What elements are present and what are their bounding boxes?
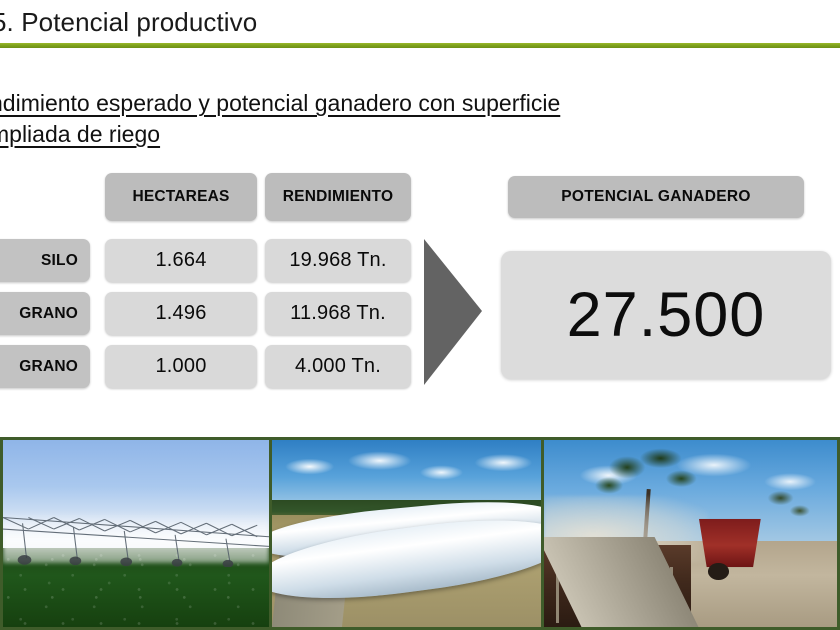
photo-center-pivot-irrigation: [0, 437, 272, 630]
feedlot-scene: [544, 440, 837, 627]
photo-silo-bags: [272, 437, 544, 630]
wagon-wheel: [708, 563, 729, 580]
background-tree: [755, 481, 819, 552]
potencial-ganadero-header: POTENCIAL GANADERO: [508, 176, 804, 218]
irrigation-scene: [3, 440, 269, 627]
table-cell-hectareas: 1.000: [105, 345, 257, 388]
slide-subtitle: ndimiento esperado y potencial ganadero …: [0, 88, 800, 150]
table-cell-hectareas: 1.664: [105, 239, 257, 282]
photo-strip: [0, 437, 840, 630]
table-row-label: GRANO: [0, 345, 90, 388]
table-cell-rendimiento: 11.968 Tn.: [265, 292, 411, 335]
production-table: HECTAREAS RENDIMIENTO SILO 1.664 19.968 …: [0, 173, 410, 395]
column-header-rendimiento: RENDIMIENTO: [265, 173, 411, 221]
clouds: [272, 447, 541, 496]
mixer-wagon: [696, 519, 760, 568]
subtitle-line-1: ndimiento esperado y potencial ganadero …: [0, 90, 560, 116]
slide-root: 5. Potencial productivo ndimiento espera…: [0, 0, 840, 630]
subtitle-line-2: mpliada de riego: [0, 119, 800, 150]
photo-cattle-feedlot: [544, 437, 840, 630]
pivot-structure-icon: [3, 504, 269, 568]
table-cell-hectareas: 1.496: [105, 292, 257, 335]
potencial-ganadero-value: 27.500: [501, 251, 831, 379]
table-row-label: GRANO: [0, 292, 90, 335]
page-title: 5. Potencial productivo: [0, 6, 692, 38]
table-row-label: SILO: [0, 239, 90, 282]
table-cell-rendimiento: 4.000 Tn.: [265, 345, 411, 388]
title-divider: [0, 43, 840, 48]
silo-bag-scene: [272, 440, 541, 627]
column-header-hectareas: HECTAREAS: [105, 173, 257, 221]
table-cell-rendimiento: 19.968 Tn.: [265, 239, 411, 282]
arrow-right-icon: [422, 237, 484, 387]
